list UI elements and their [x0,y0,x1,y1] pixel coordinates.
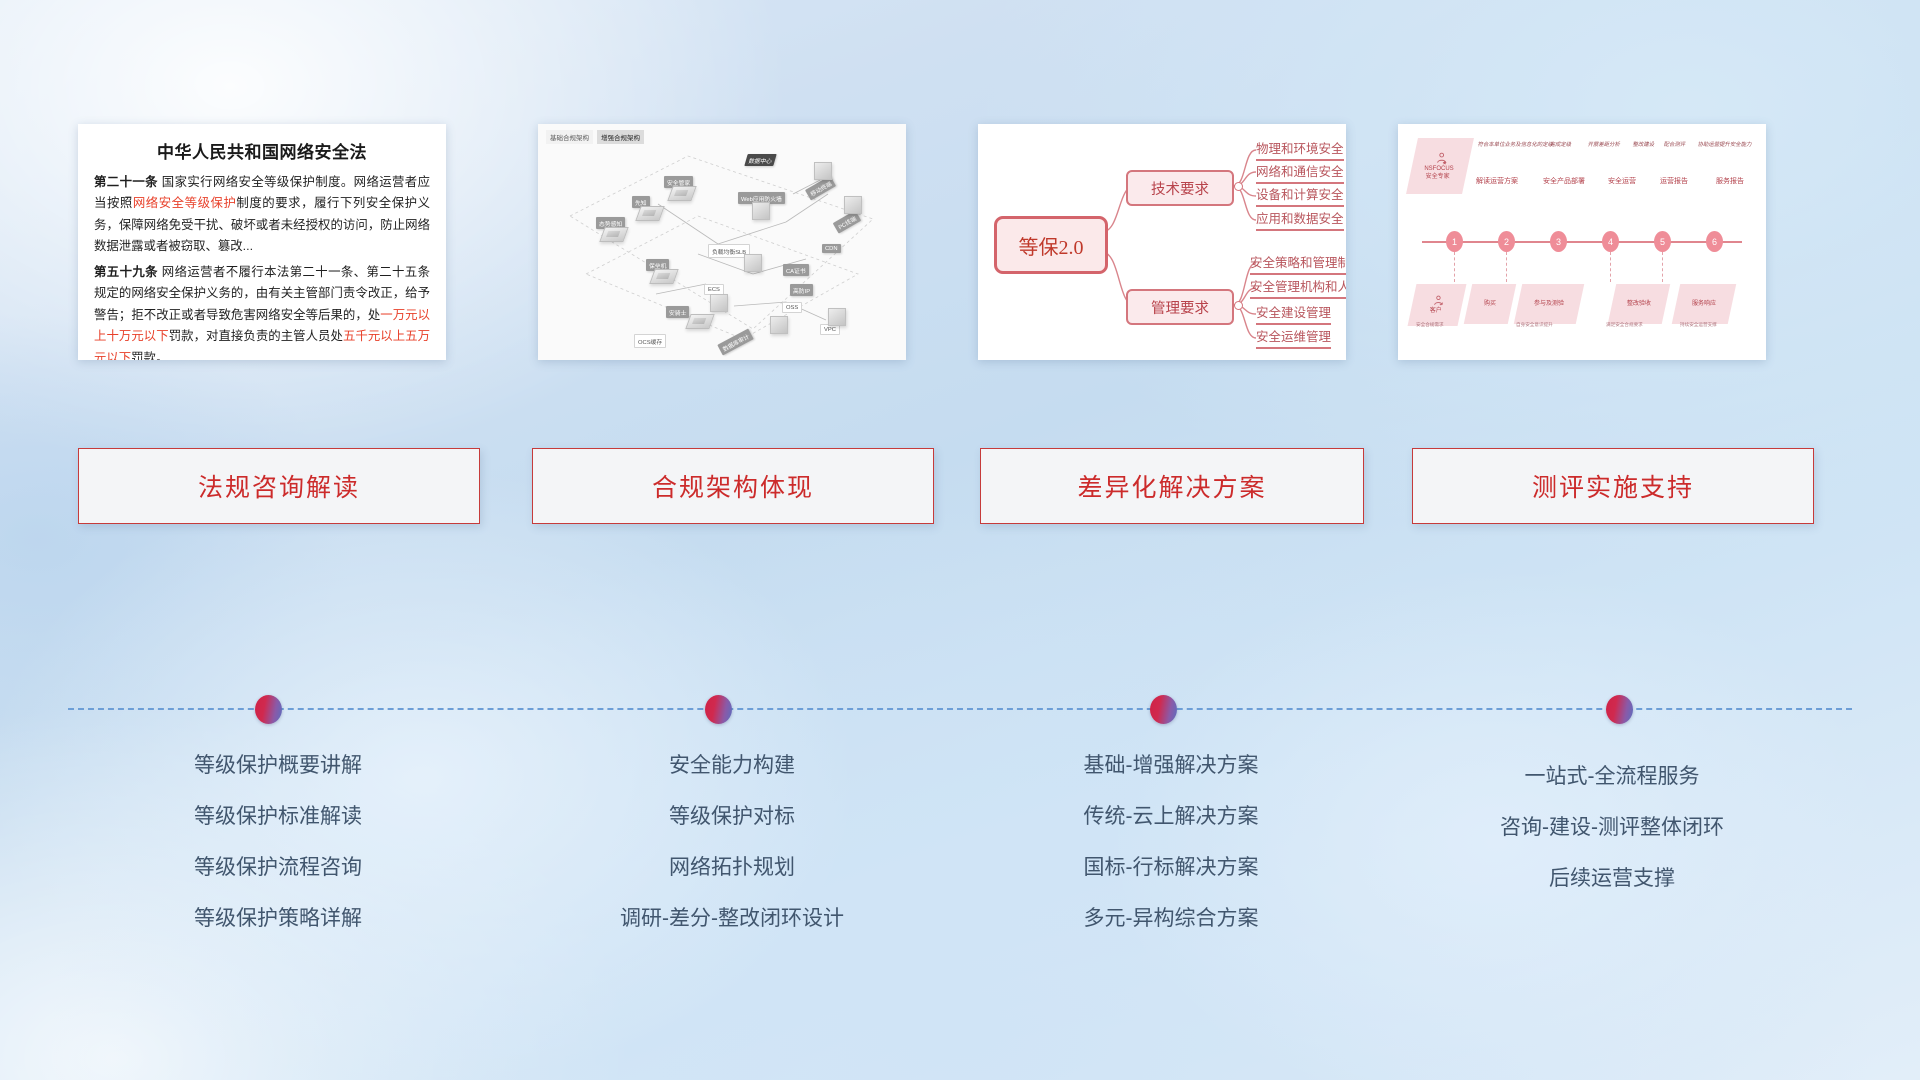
mindmap-leaf: 安全管理机构和人员 [1250,276,1346,299]
roadmap-step: 1 [1446,231,1463,252]
list-item: 等级保护策略详解 [78,893,478,944]
preview-card-row: 中华人民共和国网络安全法 第二十一条 国家实行网络安全等级保护制度。网络运营者应… [0,124,1920,364]
mindmap-leaf: 物理和环境安全 [1256,138,1344,161]
roadmap-top-label: 整改建设 [1632,140,1655,148]
disk-icon-situation [599,227,628,242]
list-item: 等级保护标准解读 [78,791,478,842]
cube-icon-oss [770,316,788,334]
section-title-label: 差异化解决方案 [1077,468,1266,504]
expert-person-icon [1435,151,1449,165]
roadmap-expert-tag: NSFOCUS 安全专家 [1406,138,1474,194]
roadmap-mid-label: 解读运营方案 [1476,176,1518,186]
detail-list-differentiated-solution: 基础-增强解决方案 传统-云上解决方案 国标-行标解决方案 多元-异构综合方案 [980,740,1362,944]
section-title-regulation-consulting[interactable]: 法规咨询解读 [78,448,480,524]
roadmap-mid-label: 运营报告 [1660,176,1688,186]
card-compliance-architecture-diagram[interactable]: 基础合规架构 增强合规架构 [538,124,906,360]
list-item: 安全能力构建 [532,740,932,791]
roadmap-bottom-tag: 服务响应 [1672,284,1737,324]
list-item: 咨询-建设-测评整体闭环 [1412,802,1812,853]
section-title-evaluation-support[interactable]: 测评实施支持 [1412,448,1814,524]
node-database-audit: 数据库审计 [717,328,754,355]
roadmap-bottom-sub: 持续安全运营支撑 [1680,322,1717,328]
disk-icon-anqishi [685,314,714,329]
section-title-label: 法规咨询解读 [198,468,360,504]
roadmap-step: 4 [1602,231,1619,252]
list-item: 传统-云上解决方案 [980,791,1362,842]
roadmap-expert-role: 安全专家 [1426,173,1450,181]
list-item: 等级保护对标 [532,791,932,842]
roadmap-brand: NSFOCUS [1425,165,1454,173]
node-ocs-cache: OCS缓存 [634,334,666,348]
law-article-59-text-b: 罚款，对直接负责的主管人员处 [169,329,343,343]
card-nsfocus-roadmap[interactable]: NSFOCUS 安全专家 符合本单位业务及信息化的定级 完成定级 开展差距分析 … [1398,124,1766,360]
timeline-node-1[interactable] [255,695,282,724]
roadmap-bottom-tag: 整改验收 [1608,284,1671,324]
list-item: 后续运营支撑 [1412,853,1812,904]
cube-icon-mobile [814,162,832,180]
roadmap-axis [1422,241,1742,243]
law-article-59-number: 第五十九条 [94,265,158,279]
cube-icon-vpc [828,308,846,326]
roadmap-mid-label: 安全产品部署 [1543,176,1585,186]
timeline-node-2[interactable] [705,695,732,724]
timeline-node-4[interactable] [1606,695,1633,724]
roadmap-customer-tag: 客户 [1408,284,1467,326]
mindmap-branch-technical: 技术要求 [1126,170,1234,206]
mindmap-collapse-dot-technical[interactable] [1234,182,1243,191]
list-item: 等级保护概要讲解 [78,740,478,791]
mindmap-leaf: 设备和计算安全 [1256,184,1344,207]
roadmap-bottom-label: 参与及测验 [1534,300,1564,308]
card-cybersecurity-law[interactable]: 中华人民共和国网络安全法 第二十一条 国家实行网络安全等级保护制度。网络运营者应… [78,124,446,360]
disk-icon-xianzhi [635,206,664,221]
section-title-differentiated-solution[interactable]: 差异化解决方案 [980,448,1364,524]
roadmap-dash [1610,252,1611,282]
cube-icon-ecs [710,294,728,312]
roadmap-mid-label: 服务报告 [1716,176,1744,186]
node-datacenter: 数据中心 [744,154,777,166]
roadmap-customer-role: 客户 [1430,307,1442,315]
node-oss: OSS [782,302,802,313]
section-detail-lists: 等级保护概要讲解 等级保护标准解读 等级保护流程咨询 等级保护策略详解 安全能力… [0,740,1920,960]
roadmap-step: 3 [1550,231,1567,252]
roadmap-step: 6 [1706,231,1723,252]
mindmap-branch-management: 管理要求 [1126,289,1234,325]
roadmap-top-label: 配合测评 [1663,140,1686,148]
section-title-label: 测评实施支持 [1532,468,1694,504]
timeline-dashed-line [68,708,1852,710]
architecture-canvas: 基础合规架构 增强合规架构 [538,124,906,360]
detail-list-evaluation-support: 一站式-全流程服务 咨询-建设-测评整体闭环 后续运营支撑 [1412,751,1812,904]
roadmap-bottom-tag: 参与及测验 [1514,284,1585,324]
roadmap-bottom-sub: 满足安全合规要求 [1606,322,1643,328]
roadmap-canvas: NSFOCUS 安全专家 符合本单位业务及信息化的定级 完成定级 开展差距分析 … [1398,124,1766,360]
node-ca-cert: CA证书 [783,264,809,276]
mindmap-leaf: 应用和数据安全 [1256,208,1344,231]
section-title-label: 合规架构体现 [652,468,814,504]
cube-icon-waf [752,202,770,220]
roadmap-bottom-sub: 自身安全意识提升 [1516,322,1553,328]
roadmap-dash [1662,252,1663,282]
law-article-59: 第五十九条 网络运营者不履行本法第二十一条、第二十五条规定的网络安全保护义务的，… [94,262,430,360]
cube-icon-slb [744,254,762,272]
roadmap-bottom-label: 整改验收 [1627,300,1651,308]
mindmap-leaf: 安全运维管理 [1256,326,1331,349]
node-anti-ddos: 高防IP [790,284,813,296]
roadmap-step: 5 [1654,231,1671,252]
detail-list-compliance-architecture: 安全能力构建 等级保护对标 网络拓扑规划 调研-差分-整改闭环设计 [532,740,932,944]
list-item: 多元-异构综合方案 [980,893,1362,944]
law-article-21-number: 第二十一条 [94,175,158,189]
roadmap-mid-label: 安全运营 [1608,176,1636,186]
section-title-row: 法规咨询解读 合规架构体现 差异化解决方案 测评实施支持 [0,448,1920,522]
list-item: 调研-差分-整改闭环设计 [532,893,932,944]
list-item: 国标-行标解决方案 [980,842,1362,893]
roadmap-top-label: 协助运营提升安全能力 [1697,140,1753,148]
mindmap-root: 等保2.0 [994,216,1108,274]
mindmap-collapse-dot-management[interactable] [1234,301,1243,310]
mindmap-leaf: 安全建设管理 [1256,302,1331,325]
roadmap-bottom-sub: 安全合规需求 [1416,322,1444,328]
law-article-21: 第二十一条 国家实行网络安全等级保护制度。网络运营者应当按照网络安全等级保护制度… [94,172,430,258]
architecture-nodes: 数据中心 安全管家 先知 态势感知 保垒机 ECS 安骑士 OCS缓存 RDS数… [538,124,906,360]
timeline [0,690,1920,730]
customer-person-icon [1431,294,1444,307]
law-article-21-highlight: 网络安全等级保护 [133,196,237,210]
roadmap-top-label: 开展差距分析 [1587,140,1621,148]
disk-icon-bastion [649,269,678,284]
law-article-59-text-c: 罚款。 [131,351,168,360]
list-item: 网络拓扑规划 [532,842,932,893]
roadmap-top-label: 完成定级 [1549,140,1572,148]
mindmap-canvas: 等保2.0 技术要求 管理要求 物理和环境安全 网络和通信安全 设备和计算安全 … [978,124,1346,360]
roadmap-bottom-label: 服务响应 [1692,300,1716,308]
list-item: 基础-增强解决方案 [980,740,1362,791]
section-title-compliance-architecture[interactable]: 合规架构体现 [532,448,934,524]
roadmap-bottom-tag: 购买 [1464,284,1517,324]
cube-icon-pc [844,196,862,214]
detail-list-regulation-consulting: 等级保护概要讲解 等级保护标准解读 等级保护流程咨询 等级保护策略详解 [78,740,478,944]
mindmap-leaf: 网络和通信安全 [1256,161,1344,184]
node-cdn: CDN [822,244,841,253]
mindmap-leaf: 安全策略和管理制度 [1250,252,1346,275]
disk-icon-guard [667,186,696,201]
roadmap-dash [1454,252,1455,282]
card-dengbao-mindmap[interactable]: 等保2.0 技术要求 管理要求 物理和环境安全 网络和通信安全 设备和计算安全 … [978,124,1346,360]
roadmap-top-label: 符合本单位业务及信息化的定级 [1477,140,1554,148]
node-anqishi: 安骑士 [666,306,689,318]
timeline-node-3[interactable] [1150,695,1177,724]
roadmap-step: 2 [1498,231,1515,252]
list-item: 一站式-全流程服务 [1412,751,1812,802]
law-title: 中华人民共和国网络安全法 [94,138,430,163]
roadmap-bottom-label: 购买 [1484,300,1496,308]
roadmap-dash [1506,252,1507,282]
list-item: 等级保护流程咨询 [78,842,478,893]
